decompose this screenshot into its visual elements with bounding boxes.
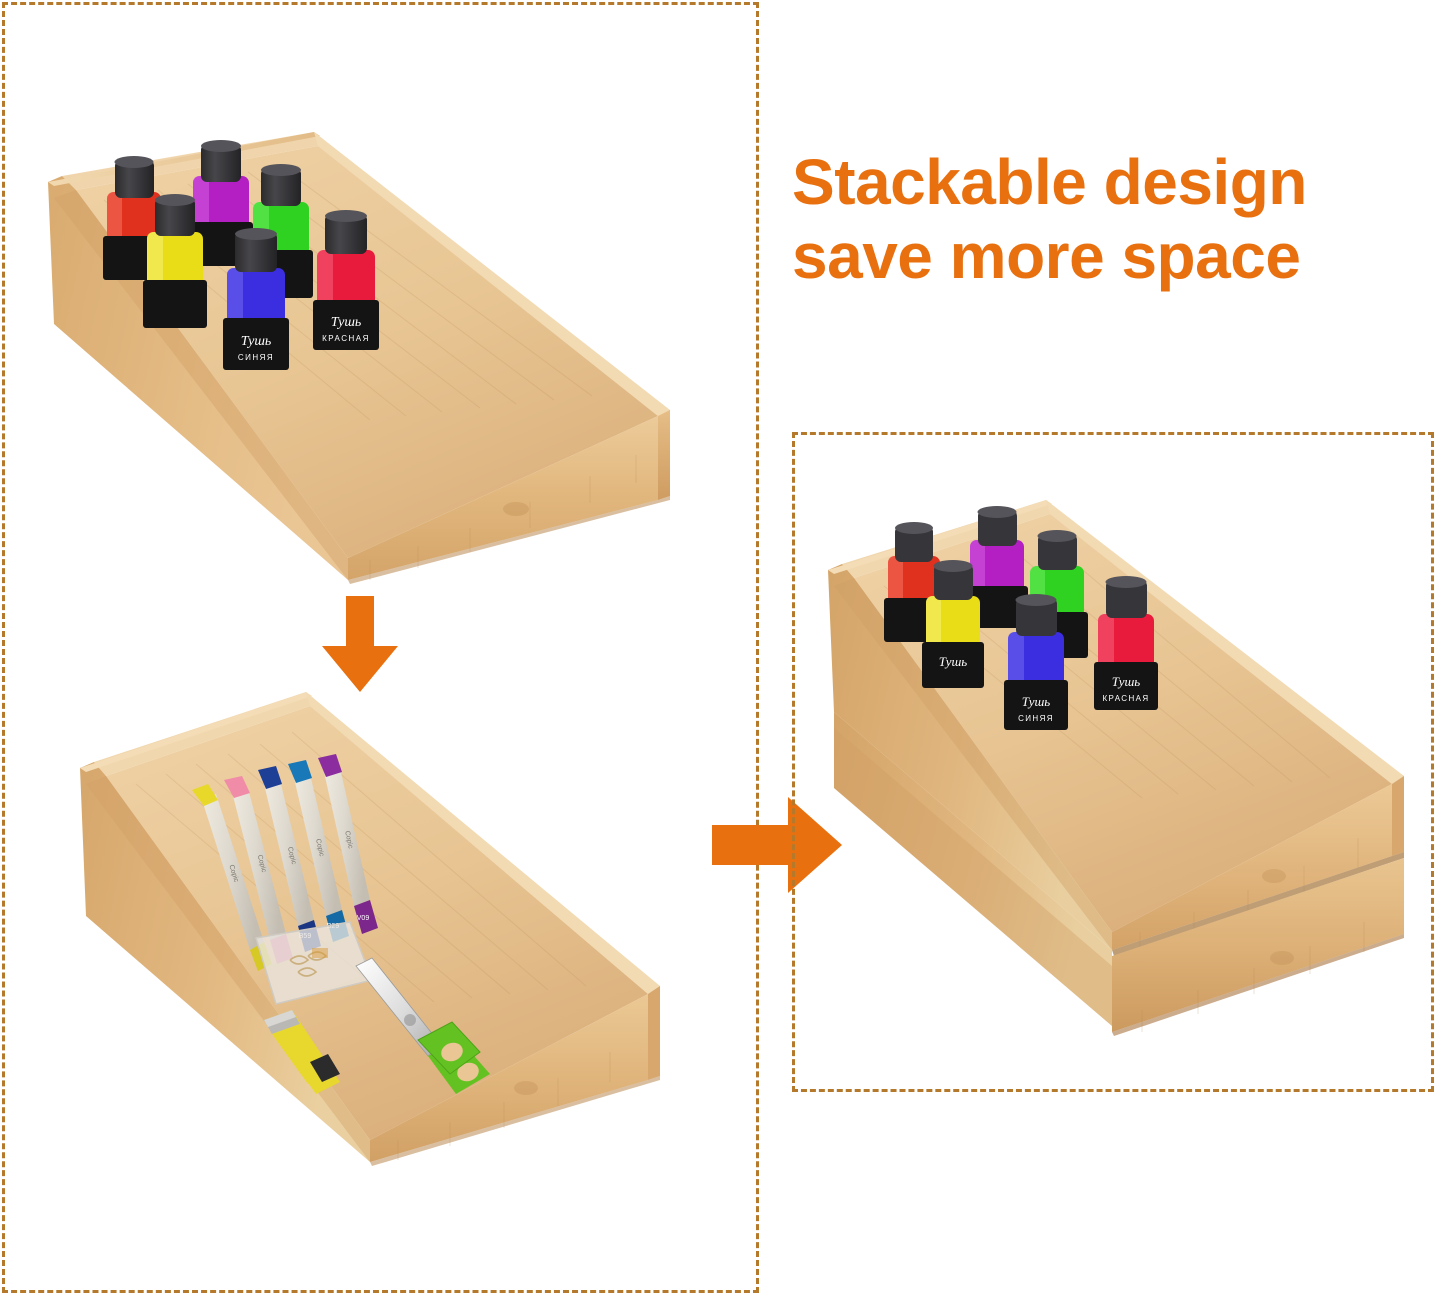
svg-text:КРАСНАЯ: КРАСНАЯ bbox=[1102, 694, 1149, 703]
ink-bottle-crimson: Тушь КРАСНАЯ bbox=[1094, 576, 1158, 710]
ink-bottle-group-stacked: Тушь Тушь КРАСНАЯ Тушь СИНЯЯ bbox=[862, 510, 1202, 760]
svg-text:Тушь: Тушь bbox=[241, 334, 272, 349]
svg-text:КРАСНАЯ: КРАСНАЯ bbox=[322, 334, 370, 343]
infographic-canvas: Тушь КРАСНАЯ Тушь СИНЯЯ bbox=[0, 0, 1438, 1297]
headline-line-1: Stackable design bbox=[792, 146, 1432, 220]
svg-text:Тушь: Тушь bbox=[1022, 694, 1051, 709]
markers-and-tools-group: Copic Copic B59 Copic B2 bbox=[160, 752, 580, 1112]
scissors bbox=[356, 958, 490, 1094]
svg-text:СИНЯЯ: СИНЯЯ bbox=[238, 353, 274, 362]
svg-text:V09: V09 bbox=[357, 915, 370, 922]
svg-text:СИНЯЯ: СИНЯЯ bbox=[1018, 714, 1054, 723]
headline-line-2: save more space bbox=[792, 220, 1432, 294]
svg-text:Тушь: Тушь bbox=[331, 315, 362, 330]
svg-text:Тушь: Тушь bbox=[939, 654, 968, 669]
arrow-down-icon bbox=[312, 596, 408, 692]
svg-text:Тушь: Тушь bbox=[1112, 674, 1141, 689]
paperclip-container bbox=[256, 922, 372, 1004]
ink-bottle-group-top: Тушь КРАСНАЯ Тушь СИНЯЯ bbox=[85, 140, 425, 400]
page-headline: Stackable design save more space bbox=[792, 146, 1432, 293]
ink-bottle-crimson: Тушь КРАСНАЯ bbox=[313, 210, 379, 350]
box-cutter bbox=[264, 1010, 340, 1094]
